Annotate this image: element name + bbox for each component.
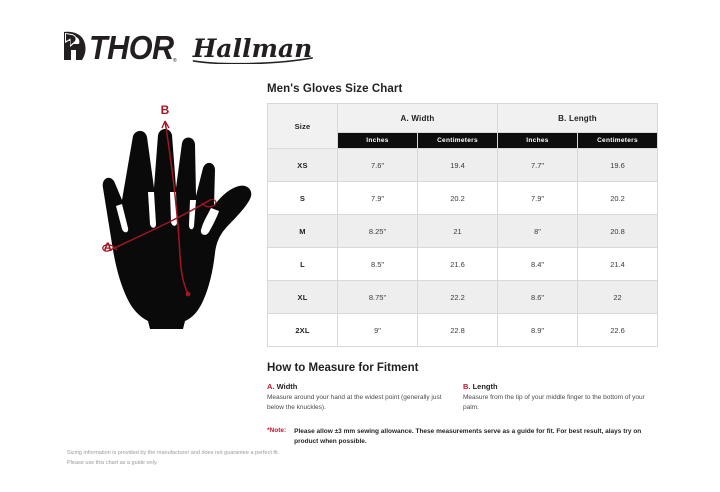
cell-length-inches: 7.9"	[498, 182, 578, 215]
cell-width-centimeters: 19.4	[418, 149, 498, 182]
cell-size: M	[268, 215, 338, 248]
cell-width-centimeters: 21	[418, 215, 498, 248]
measure-marker-b: B.	[463, 382, 471, 391]
cell-length-centimeters: 19.6	[578, 149, 658, 182]
cell-length-inches: 8.9"	[498, 314, 578, 347]
cell-size: 2XL	[268, 314, 338, 347]
cell-length-inches: 7.7"	[498, 149, 578, 182]
cell-width-centimeters: 22.8	[418, 314, 498, 347]
cell-width-inches: 8.25"	[338, 215, 418, 248]
column-header-length-inches: Inches	[498, 133, 578, 149]
table-row: 2XL 9" 22.8 8.9" 22.6	[268, 314, 658, 347]
table-row: XL 8.75" 22.2 8.6" 22	[268, 281, 658, 314]
thor-hammer-emblem-icon	[62, 30, 88, 67]
column-group-width: A. Width	[338, 104, 498, 133]
cell-size: S	[268, 182, 338, 215]
measure-body-width: Measure around your hand at the widest p…	[267, 393, 454, 413]
table-row: S 7.9" 20.2 7.9" 20.2	[268, 182, 658, 215]
page-title: Men's Gloves Size Chart	[267, 83, 659, 95]
measure-instructions: A. Width Measure around your hand at the…	[267, 382, 659, 413]
cell-width-centimeters: 21.6	[418, 248, 498, 281]
column-header-width-centimeters: Centimeters	[418, 133, 498, 149]
note-text: Please allow ±3 mm sewing allowance. The…	[294, 427, 659, 447]
cell-length-inches: 8.4"	[498, 248, 578, 281]
cell-length-centimeters: 20.2	[578, 182, 658, 215]
column-header-width-inches: Inches	[338, 133, 418, 149]
brand-logo-bar: THOR ® Hallman	[62, 30, 314, 67]
cell-length-inches: 8.6"	[498, 281, 578, 314]
hand-measurement-diagram: A B	[70, 96, 265, 331]
measure-section-title: How to Measure for Fitment	[267, 362, 659, 374]
cell-width-centimeters: 22.2	[418, 281, 498, 314]
cell-length-centimeters: 20.8	[578, 215, 658, 248]
table-header-groups: Size A. Width B. Length	[268, 104, 658, 133]
cell-width-inches: 8.5"	[338, 248, 418, 281]
measure-name-width: Width	[277, 382, 298, 391]
cell-width-inches: 7.9"	[338, 182, 418, 215]
column-header-size: Size	[268, 104, 338, 149]
hallman-swash-icon	[191, 56, 315, 64]
measure-body-length: Measure from the tip of your middle fing…	[463, 393, 650, 413]
cell-width-inches: 8.75"	[338, 281, 418, 314]
measure-item-width: A. Width Measure around your hand at the…	[267, 382, 463, 413]
cell-width-inches: 7.6"	[338, 149, 418, 182]
table-row: XS 7.6" 19.4 7.7" 19.6	[268, 149, 658, 182]
cell-length-centimeters: 22	[578, 281, 658, 314]
measure-item-heading: B. Length	[463, 382, 650, 391]
cell-size: L	[268, 248, 338, 281]
table-row: L 8.5" 21.6 8.4" 21.4	[268, 248, 658, 281]
cell-size: XL	[268, 281, 338, 314]
cell-size: XS	[268, 149, 338, 182]
diagram-label-b: B	[161, 103, 170, 117]
note-block: *Note: Please allow ±3 mm sewing allowan…	[267, 427, 659, 447]
cell-width-inches: 9"	[338, 314, 418, 347]
cell-length-centimeters: 22.6	[578, 314, 658, 347]
measure-marker-a: A.	[267, 382, 275, 391]
thor-wordmark: THOR	[89, 32, 174, 66]
cell-width-centimeters: 20.2	[418, 182, 498, 215]
footer-line-1: Sizing information is provided by the ma…	[67, 449, 279, 459]
column-header-length-centimeters: Centimeters	[578, 133, 658, 149]
note-label: *Note:	[267, 427, 294, 447]
footer-line-2: Please use this chart as a guide only.	[67, 459, 279, 469]
cell-length-centimeters: 21.4	[578, 248, 658, 281]
column-group-length: B. Length	[498, 104, 658, 133]
measure-name-length: Length	[473, 382, 498, 391]
measure-item-heading: A. Width	[267, 382, 454, 391]
thor-logo: THOR ®	[62, 30, 177, 67]
diagram-label-a: A	[103, 240, 112, 254]
size-chart-content: Men's Gloves Size Chart Size A. Width B.…	[267, 83, 659, 447]
table-row: M 8.25" 21 8" 20.8	[268, 215, 658, 248]
hand-silhouette-icon	[103, 129, 252, 329]
measure-item-length: B. Length Measure from the tip of your m…	[463, 382, 659, 413]
size-chart-table: Size A. Width B. Length Inches Centimete…	[267, 103, 658, 347]
footer-disclaimer: Sizing information is provided by the ma…	[67, 449, 279, 468]
hallman-logo: Hallman	[191, 36, 315, 62]
cell-length-inches: 8"	[498, 215, 578, 248]
